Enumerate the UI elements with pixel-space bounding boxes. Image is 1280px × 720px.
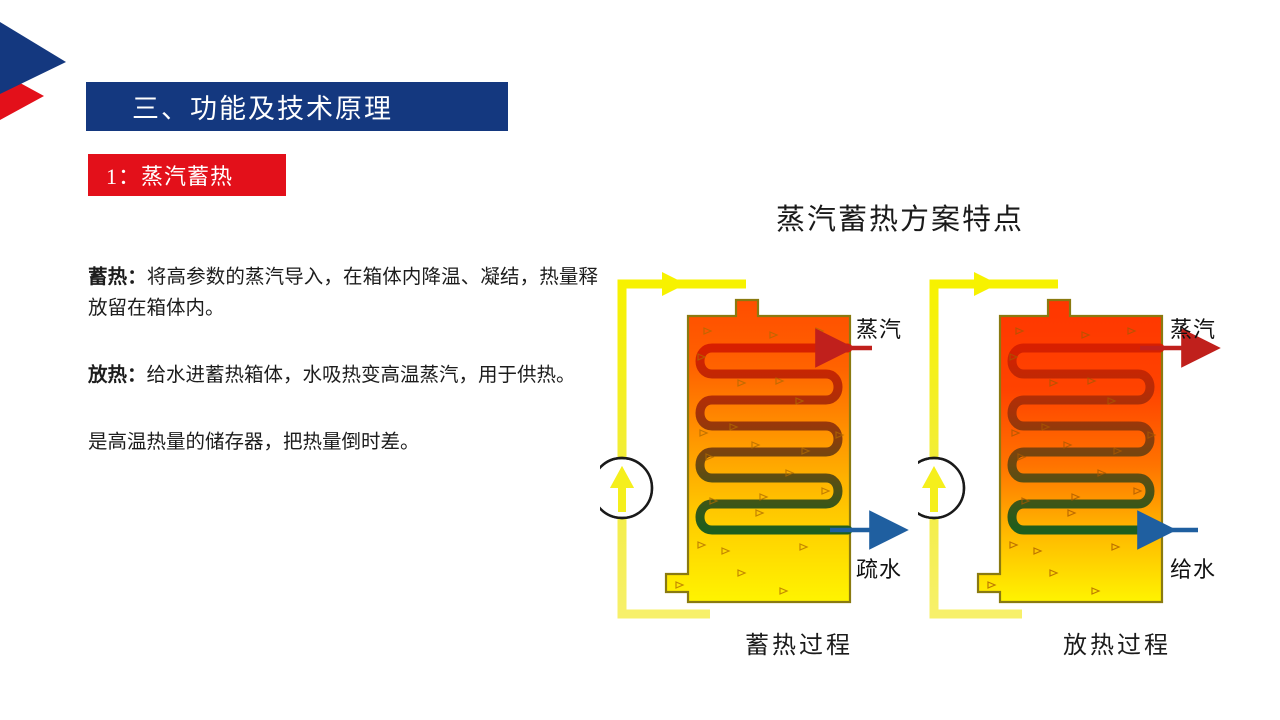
port-label-feedwater-discharging: 给水 [1170, 552, 1216, 584]
paragraph-storage: 蓄热：将高参数的蒸汽导入，在箱体内降温、凝结，热量释放留在箱体内。 [88, 262, 598, 324]
slide-canvas: 三、功能及技术原理 1：蒸汽蓄热 蓄热：将高参数的蒸汽导入，在箱体内降温、凝结，… [0, 0, 1280, 720]
paragraph-summary-text: 是高温热量的储存器，把热量倒时差。 [88, 432, 420, 453]
diagram-title: 蒸汽蓄热方案特点 [700, 196, 1100, 238]
paragraph-storage-text: 将高参数的蒸汽导入，在箱体内降温、凝结，热量释放留在箱体内。 [88, 267, 598, 319]
section-header-bar: 三、功能及技术原理 [86, 82, 508, 131]
sub-header-bar: 1：蒸汽蓄热 [88, 154, 286, 196]
figure-caption-discharging: 放热过程 [918, 625, 1238, 660]
pump-symbol-discharging [918, 458, 964, 518]
paragraph-release-text: 给水进蓄热箱体，水吸热变高温蒸汽，用于供热。 [147, 365, 576, 386]
port-label-steam-discharging: 蒸汽 [1170, 312, 1216, 344]
loop-flow-arrow-icon [974, 272, 998, 296]
paragraph-summary: 是高温热量的储存器，把热量倒时差。 [88, 427, 598, 458]
body-text-block: 蓄热：将高参数的蒸汽导入，在箱体内降温、凝结，热量释放留在箱体内。 放热：给水进… [88, 262, 598, 458]
corner-blue-shape [0, 22, 66, 94]
pump-symbol-charging [600, 458, 652, 518]
paragraph-release-lead: 放热： [88, 365, 147, 386]
sub-header-label: 1：蒸汽蓄热 [88, 159, 233, 191]
paragraph-storage-lead: 蓄热： [88, 267, 147, 288]
figure-caption-charging: 蓄热过程 [600, 625, 920, 660]
figure-discharging: 蒸汽 给水 放热过程 [918, 262, 1238, 662]
loop-flow-arrow-icon [662, 272, 686, 296]
section-header-label: 三、功能及技术原理 [86, 87, 393, 126]
paragraph-release: 放热：给水进蓄热箱体，水吸热变高温蒸汽，用于供热。 [88, 360, 598, 391]
figure-charging: 蒸汽 疏水 蓄热过程 [600, 262, 920, 662]
port-label-steam-charging: 蒸汽 [856, 312, 902, 344]
port-label-drain-charging: 疏水 [856, 552, 902, 584]
